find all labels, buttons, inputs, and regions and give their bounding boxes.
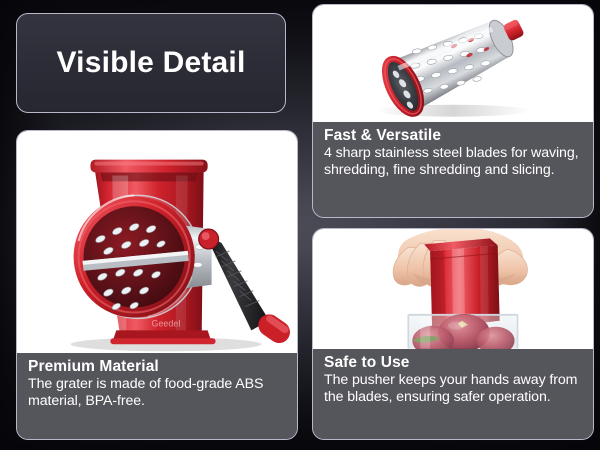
feature-caption-fast-versatile: Fast & Versatile 4 sharp stainless steel…: [313, 122, 593, 217]
feature-heading: Fast & Versatile: [324, 127, 584, 144]
page-title: Visible Detail: [57, 48, 246, 78]
feature-heading: Safe to Use: [324, 354, 584, 371]
feature-card-premium-material: Geedel Premium Material The grater is ma…: [16, 130, 298, 440]
feature-card-fast-versatile: Fast & Versatile 4 sharp stainless steel…: [312, 4, 594, 218]
feature-heading: Premium Material: [28, 358, 288, 375]
hand-pusher-photo: [313, 229, 593, 349]
feature-card-safe-to-use: Safe to Use The pusher keeps your hands …: [312, 228, 594, 440]
brand-mark: Geedel: [152, 318, 181, 328]
feature-body: The grater is made of food-grade ABS mat…: [28, 376, 288, 408]
grater-drum-photo: [313, 5, 593, 122]
feature-body: The pusher keeps your hands away from th…: [324, 372, 584, 404]
feature-caption-premium-material: Premium Material The grater is made of f…: [17, 353, 297, 439]
feature-caption-safe-to-use: Safe to Use The pusher keeps your hands …: [313, 349, 593, 439]
title-card: Visible Detail: [16, 13, 286, 113]
rotary-grater-body-photo: Geedel: [17, 131, 297, 353]
feature-body: 4 sharp stainless steel blades for wavin…: [324, 145, 584, 177]
product-feature-infographic: Visible Detail: [0, 0, 600, 450]
